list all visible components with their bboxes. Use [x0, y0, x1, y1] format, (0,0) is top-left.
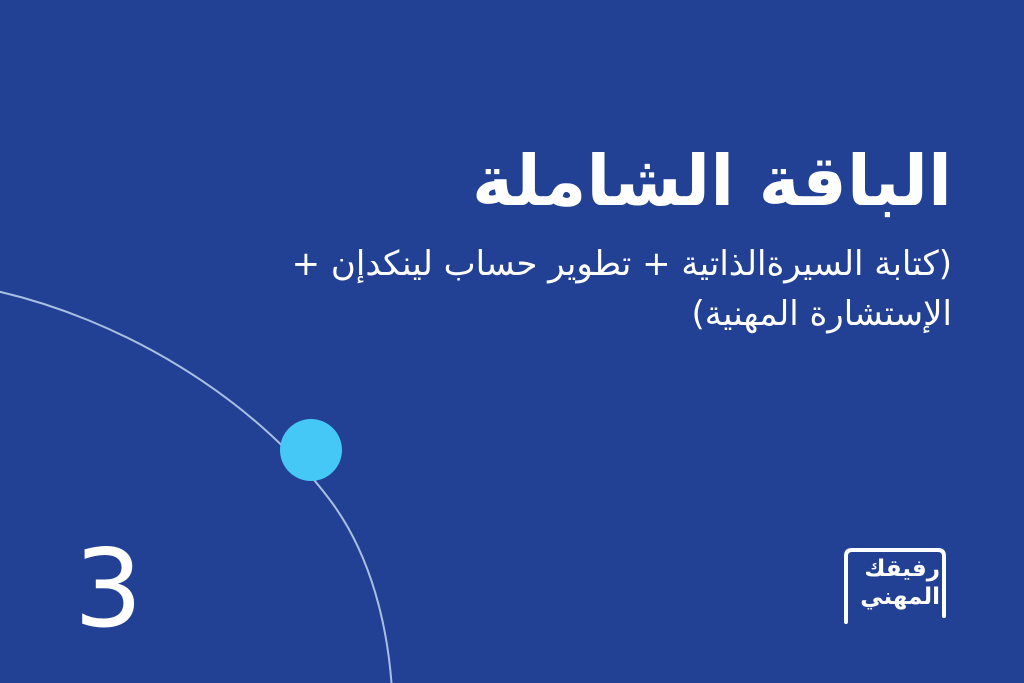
slide-canvas: الباقة الشاملة (كتابة السيرةالذاتية + تط… — [0, 0, 1024, 683]
slide-subtitle: (كتابة السيرةالذاتية + تطوير حساب لينكدإ… — [252, 239, 952, 339]
brand-logo: رفيقك المهني — [840, 544, 952, 628]
logo-text-bottom: المهني — [860, 586, 940, 609]
page-title: الباقة الشاملة — [252, 140, 952, 223]
logo-text-top: رفيقك — [864, 558, 940, 581]
slide-number: 3 — [74, 536, 143, 644]
slide-subtitle-line-2: الإستشارة المهنية) — [692, 294, 952, 334]
slide-subtitle-line-1: (كتابة السيرةالذاتية + تطوير حساب لينكدإ… — [292, 244, 952, 284]
slide-text-block: الباقة الشاملة (كتابة السيرةالذاتية + تط… — [252, 140, 952, 339]
arc-line-icon — [0, 290, 392, 683]
accent-dot-icon — [280, 419, 342, 481]
